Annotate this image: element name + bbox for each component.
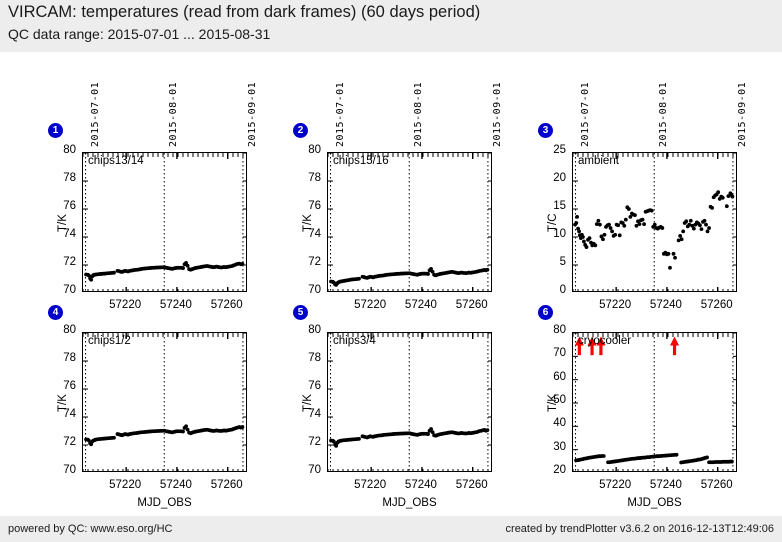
date-marker-label: 2015-07-01 bbox=[580, 82, 591, 147]
y-tick-label: 25 bbox=[530, 144, 566, 156]
plot-area-4[interactable]: chips1/2 bbox=[82, 332, 247, 472]
y-tick-label: 76 bbox=[285, 380, 321, 392]
plot-title-6: cryocooler bbox=[578, 335, 631, 347]
date-marker-label: 2015-09-01 bbox=[492, 82, 503, 147]
date-marker-label: 2015-08-01 bbox=[413, 82, 424, 147]
y-tick-label: 78 bbox=[285, 352, 321, 364]
y-tick-label: 15 bbox=[530, 200, 566, 212]
plot-area-1[interactable]: chips13/14 bbox=[82, 152, 247, 292]
y-tick-label: 80 bbox=[40, 144, 76, 156]
y-tick-label: 76 bbox=[285, 200, 321, 212]
x-tick-label: 57260 bbox=[442, 479, 502, 491]
date-marker-label: 2015-08-01 bbox=[168, 82, 179, 147]
panel-badge-1: 1 bbox=[48, 123, 63, 138]
alert-arrow-icon bbox=[670, 337, 679, 356]
y-tick-label: 74 bbox=[40, 228, 76, 240]
y-tick-label: 70 bbox=[285, 284, 321, 296]
page-title: VIRCAM: temperatures (read from dark fra… bbox=[8, 3, 480, 22]
y-tick-label: 78 bbox=[40, 172, 76, 184]
date-marker-label: 2015-07-01 bbox=[90, 82, 101, 147]
panel-badge-6: 6 bbox=[538, 305, 553, 320]
y-tick-label: 78 bbox=[40, 352, 76, 364]
y-tick-label: 72 bbox=[285, 436, 321, 448]
date-marker-label: 2015-09-01 bbox=[737, 82, 748, 147]
x-tick-label: 57260 bbox=[197, 299, 257, 311]
y-tick-label: 72 bbox=[40, 436, 76, 448]
plot-title-1: chips13/14 bbox=[88, 155, 144, 167]
plot-title-3: ambient bbox=[578, 155, 619, 167]
plot-area-3[interactable]: ambient bbox=[572, 152, 737, 292]
footer-credit-left: powered by QC: www.eso.org/HC bbox=[8, 523, 172, 535]
plot-title-2: chips15/16 bbox=[333, 155, 389, 167]
y-tick-label: 10 bbox=[530, 228, 566, 240]
y-tick-label: 5 bbox=[530, 256, 566, 268]
y-tick-label: 70 bbox=[40, 284, 76, 296]
plot-area-2[interactable]: chips15/16 bbox=[327, 152, 492, 292]
y-tick-label: 20 bbox=[530, 464, 566, 476]
plot-area-6[interactable]: cryocooler bbox=[572, 332, 737, 472]
y-tick-label: 0 bbox=[530, 284, 566, 296]
date-marker-label: 2015-08-01 bbox=[658, 82, 669, 147]
y-tick-label: 72 bbox=[285, 256, 321, 268]
x-tick-label: 57260 bbox=[687, 299, 747, 311]
y-tick-label: 80 bbox=[40, 324, 76, 336]
y-tick-label: 20 bbox=[530, 172, 566, 184]
x-axis-label-4: MJD_OBS bbox=[115, 497, 215, 509]
y-tick-label: 70 bbox=[285, 464, 321, 476]
panel-badge-2: 2 bbox=[293, 123, 308, 138]
panel-badge-4: 4 bbox=[48, 305, 63, 320]
panel-badge-3: 3 bbox=[538, 123, 553, 138]
x-tick-label: 57260 bbox=[197, 479, 257, 491]
plot-area-5[interactable]: chips3/4 bbox=[327, 332, 492, 472]
footer-credit-right: created by trendPlotter v3.6.2 on 2016-1… bbox=[506, 523, 774, 535]
y-tick-label: 74 bbox=[40, 408, 76, 420]
y-tick-label: 70 bbox=[40, 464, 76, 476]
y-tick-label: 80 bbox=[530, 324, 566, 336]
y-tick-label: 76 bbox=[40, 380, 76, 392]
y-tick-label: 76 bbox=[40, 200, 76, 212]
y-tick-label: 50 bbox=[530, 394, 566, 406]
y-tick-label: 78 bbox=[285, 172, 321, 184]
x-tick-label: 57260 bbox=[442, 299, 502, 311]
plot-title-5: chips3/4 bbox=[333, 335, 376, 347]
y-tick-label: 74 bbox=[285, 228, 321, 240]
y-tick-label: 60 bbox=[530, 371, 566, 383]
y-tick-label: 74 bbox=[285, 408, 321, 420]
date-marker-label: 2015-09-01 bbox=[247, 82, 258, 147]
x-axis-label-6: MJD_OBS bbox=[605, 497, 705, 509]
x-tick-label: 57260 bbox=[687, 479, 747, 491]
x-axis-label-5: MJD_OBS bbox=[360, 497, 460, 509]
y-tick-label: 80 bbox=[285, 144, 321, 156]
plot-title-4: chips1/2 bbox=[88, 335, 131, 347]
y-tick-label: 72 bbox=[40, 256, 76, 268]
page-subtitle: QC data range: 2015-07-01 ... 2015-08-31 bbox=[8, 26, 270, 42]
y-tick-label: 80 bbox=[285, 324, 321, 336]
y-tick-label: 40 bbox=[530, 417, 566, 429]
y-tick-label: 30 bbox=[530, 441, 566, 453]
panel-badge-5: 5 bbox=[293, 305, 308, 320]
date-marker-label: 2015-07-01 bbox=[335, 82, 346, 147]
y-tick-label: 70 bbox=[530, 347, 566, 359]
